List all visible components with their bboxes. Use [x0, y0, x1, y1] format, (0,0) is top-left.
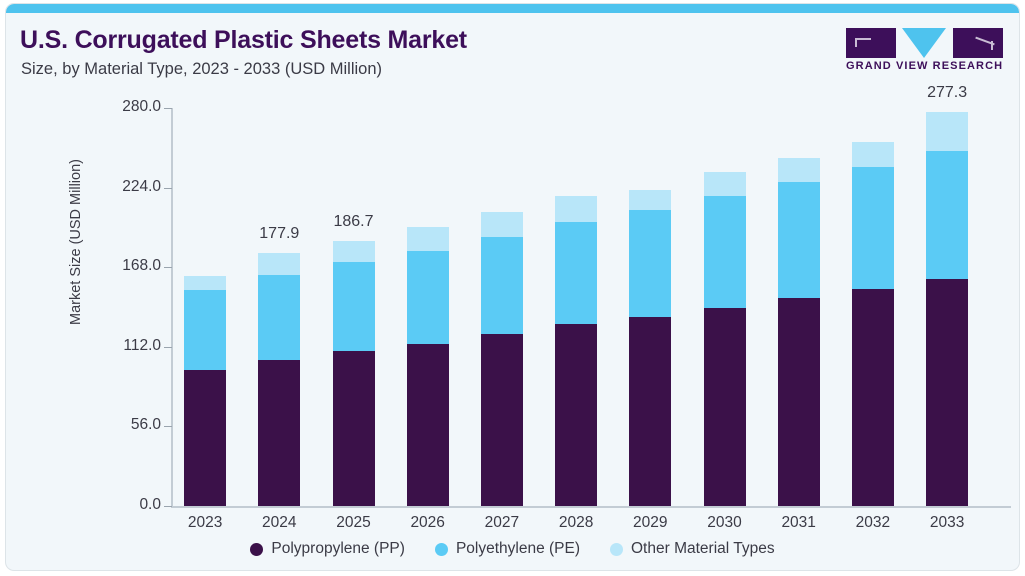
- bar-stack[interactable]: [852, 108, 894, 506]
- legend-item[interactable]: Polyethylene (PE): [435, 540, 580, 558]
- legend-item[interactable]: Polypropylene (PP): [250, 540, 405, 558]
- bar-segment-pe[interactable]: [629, 210, 671, 317]
- y-axis-tick-label: 224.0: [91, 178, 161, 196]
- chart-plot-area: Market Size (USD Million) 0.056.0112.016…: [6, 4, 1019, 570]
- bar-segment-other[interactable]: [629, 190, 671, 210]
- bar-segment-pe[interactable]: [481, 237, 523, 334]
- x-axis-tick-label: 2028: [536, 514, 616, 532]
- bar-segment-pe[interactable]: [407, 251, 449, 344]
- y-axis-tick-label: 112.0: [91, 337, 161, 355]
- bar-segment-other[interactable]: [184, 276, 226, 290]
- bar-segment-pe[interactable]: [852, 167, 894, 289]
- legend-label: Polyethylene (PE): [456, 540, 580, 558]
- legend-item[interactable]: Other Material Types: [610, 540, 775, 558]
- bar-segment-pp[interactable]: [629, 317, 671, 506]
- y-axis-title: Market Size (USD Million): [68, 132, 84, 352]
- bar-stack[interactable]: [926, 108, 968, 506]
- y-axis-tick-mark: [164, 426, 172, 427]
- y-axis-tick-label: 168.0: [91, 257, 161, 275]
- bar-segment-other[interactable]: [407, 227, 449, 250]
- y-axis-tick-label: 56.0: [91, 416, 161, 434]
- bar-stack[interactable]: [333, 108, 375, 506]
- bar-segment-pp[interactable]: [481, 334, 523, 506]
- bar-segment-pe[interactable]: [184, 290, 226, 370]
- bar-segment-pp[interactable]: [778, 298, 820, 506]
- bar-segment-pe[interactable]: [555, 222, 597, 324]
- chart-legend: Polypropylene (PP)Polyethylene (PE)Other…: [6, 540, 1019, 558]
- x-axis-tick-label: 2023: [165, 514, 245, 532]
- bar-stack[interactable]: [629, 108, 671, 506]
- bar-total-label: 186.7: [309, 213, 399, 231]
- legend-label: Other Material Types: [631, 540, 775, 558]
- legend-dot-icon: [435, 543, 448, 556]
- bar-stack[interactable]: [407, 108, 449, 506]
- bar-segment-pp[interactable]: [704, 308, 746, 506]
- x-axis-tick-label: 2032: [833, 514, 913, 532]
- bar-stack[interactable]: [555, 108, 597, 506]
- bar-stack[interactable]: [778, 108, 820, 506]
- bar-stack[interactable]: [184, 108, 226, 506]
- bar-total-label: 277.3: [902, 84, 992, 102]
- bar-segment-pp[interactable]: [407, 344, 449, 506]
- x-axis-line: [171, 506, 1011, 508]
- bar-segment-other[interactable]: [852, 142, 894, 167]
- bar-stack[interactable]: [704, 108, 746, 506]
- y-axis-tick-mark: [164, 188, 172, 189]
- bar-segment-pe[interactable]: [333, 262, 375, 351]
- y-axis-tick-mark: [164, 108, 172, 109]
- x-axis-tick-label: 2030: [685, 514, 765, 532]
- bar-segment-other[interactable]: [333, 241, 375, 263]
- x-axis-tick-label: 2026: [388, 514, 468, 532]
- x-axis-tick-label: 2031: [759, 514, 839, 532]
- bar-segment-pe[interactable]: [926, 151, 968, 280]
- bar-segment-other[interactable]: [555, 196, 597, 222]
- x-axis-tick-label: 2025: [314, 514, 394, 532]
- bar-segment-pp[interactable]: [555, 324, 597, 506]
- bar-segment-pp[interactable]: [852, 289, 894, 506]
- y-axis-line: [171, 108, 173, 506]
- legend-dot-icon: [250, 543, 263, 556]
- y-axis-tick-mark: [164, 347, 172, 348]
- bar-segment-pp[interactable]: [333, 351, 375, 506]
- bar-segment-other[interactable]: [481, 212, 523, 237]
- x-axis-tick-label: 2029: [610, 514, 690, 532]
- bar-stack[interactable]: [481, 108, 523, 506]
- x-axis-tick-label: 2033: [907, 514, 987, 532]
- bar-segment-pp[interactable]: [184, 370, 226, 506]
- bar-segment-other[interactable]: [926, 112, 968, 151]
- y-axis-tick-label: 0.0: [91, 496, 161, 514]
- y-axis-tick-label: 280.0: [91, 98, 161, 116]
- y-axis-tick-mark: [164, 267, 172, 268]
- bar-segment-other[interactable]: [258, 253, 300, 275]
- bar-segment-pe[interactable]: [778, 182, 820, 299]
- legend-label: Polypropylene (PP): [271, 540, 405, 558]
- bar-segment-pp[interactable]: [258, 360, 300, 506]
- legend-dot-icon: [610, 543, 623, 556]
- x-axis-tick-label: 2027: [462, 514, 542, 532]
- bar-segment-other[interactable]: [778, 158, 820, 181]
- bar-segment-other[interactable]: [704, 172, 746, 196]
- chart-card: U.S. Corrugated Plastic Sheets Market Si…: [6, 4, 1019, 570]
- y-axis-tick-mark: [164, 506, 172, 507]
- bar-segment-pe[interactable]: [704, 196, 746, 308]
- x-axis-tick-label: 2024: [239, 514, 319, 532]
- bar-segment-pp[interactable]: [926, 279, 968, 506]
- bar-segment-pe[interactable]: [258, 275, 300, 360]
- bar-stack[interactable]: [258, 108, 300, 506]
